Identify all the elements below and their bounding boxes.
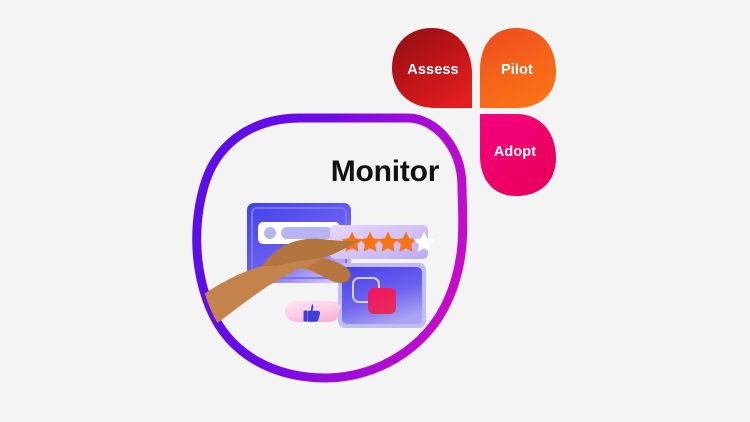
- diagram-canvas: Assess Pilot Adopt Monitor: [0, 0, 750, 422]
- tile-accent-square: [368, 288, 396, 314]
- illustration-group: [180, 203, 435, 335]
- search-pill: [281, 227, 333, 239]
- stage-blob-pilot[interactable]: [480, 28, 556, 108]
- thumbs-up-bubble: [285, 301, 341, 322]
- stage-blob-assess[interactable]: [392, 28, 472, 108]
- media-tile-card: [338, 263, 426, 328]
- stage-label-monitor: Monitor: [285, 155, 485, 189]
- diagram-svg: [0, 0, 750, 422]
- stage-blob-adopt[interactable]: [480, 114, 556, 196]
- search-avatar-dot: [264, 227, 276, 239]
